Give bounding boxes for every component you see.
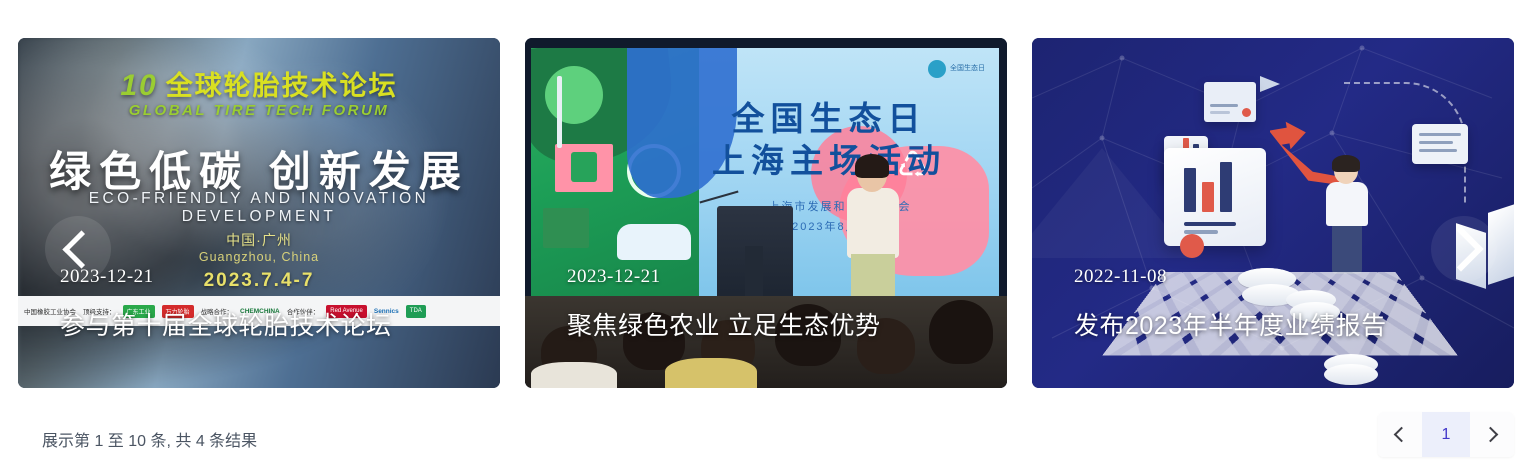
carousel-prev-button[interactable] (45, 216, 111, 282)
podium-shape (717, 206, 793, 306)
coin-shape (1324, 364, 1378, 385)
card-title: 参与第十届全球轮胎技术论坛 (60, 306, 392, 342)
pagination[interactable]: 1 (1378, 412, 1514, 457)
results-summary: 展示第 1 至 10 条, 共 4 条结果 (42, 427, 257, 451)
card-date: 2022-11-08 (1074, 266, 1167, 288)
table-footer: 展示第 1 至 10 条, 共 4 条结果 (0, 405, 1533, 471)
pagination-next-button[interactable] (1470, 412, 1514, 457)
news-carousel[interactable]: 10全球轮胎技术论坛 GLOBAL TIRE TECH FORUM 绿色低碳 创… (18, 38, 1516, 388)
bar-decoration (1202, 182, 1214, 212)
chevron-left-icon (1394, 427, 1410, 443)
sponsor-logo: TDA (406, 305, 426, 318)
person-figure (1320, 158, 1376, 276)
poster-headline-en: GLOBAL TIRE TECH FORUM (18, 102, 500, 119)
line-decoration (1184, 222, 1236, 226)
bar-decoration (1220, 162, 1232, 212)
audience-body (531, 362, 617, 388)
line-decoration (1210, 104, 1238, 107)
poster-line1: 全国生态日 (679, 92, 979, 140)
monitor-chart-card (1164, 148, 1266, 246)
logo-text: 全国生态日 (950, 65, 985, 73)
logo-mark-icon (928, 60, 946, 78)
dot-decoration (1242, 108, 1251, 117)
chevron-right-icon (1483, 427, 1499, 443)
card-title: 聚焦绿色农业 立足生态优势 (567, 306, 880, 342)
window-card (1204, 82, 1256, 122)
pagination-page-1[interactable]: 1 (1422, 412, 1470, 457)
person-legs (1332, 222, 1362, 274)
speaker-hair (855, 154, 889, 178)
speaker-body (847, 188, 899, 258)
bar-decoration (1184, 168, 1196, 212)
carousel-next-button[interactable] (1431, 216, 1497, 282)
line-decoration (1419, 149, 1457, 152)
poster-headline-text: 全球轮胎技术论坛 (166, 71, 398, 101)
card-date: 2023-12-21 (567, 266, 661, 288)
person-hair (1332, 155, 1360, 172)
car-shape (617, 224, 691, 260)
chevron-left-icon (62, 230, 100, 268)
building-shape (543, 208, 589, 248)
card-title: 发布2023年半年度业绩报告 (1074, 306, 1387, 342)
audience-body (665, 358, 757, 388)
poster-edition-number: 10 (120, 69, 157, 102)
chevron-right-icon (1438, 226, 1483, 271)
audience-head (929, 300, 993, 364)
speaker-figure (843, 158, 903, 306)
chat-bubble-icon (1412, 124, 1468, 164)
plug-icon (571, 152, 597, 182)
carousel-card[interactable]: 2022-11-08 发布2023年半年度业绩报告 (1032, 38, 1514, 388)
circle-shape (545, 66, 603, 124)
pagination-prev-button[interactable] (1378, 412, 1422, 457)
line-decoration (1210, 111, 1230, 114)
carousel-card[interactable]: 10全球轮胎技术论坛 GLOBAL TIRE TECH FORUM 绿色低碳 创… (18, 38, 500, 388)
windmill-pole (557, 76, 562, 148)
poster-line2: 上海主场活动 (679, 134, 979, 182)
person-torso (1326, 182, 1368, 226)
poster-logo: 全国生态日 (928, 60, 985, 78)
line-decoration (1419, 133, 1461, 136)
carousel-card[interactable]: ♺ 全国生态日 全国生态日 上海主场活动 上海市发展和改革委员会 2023年8月… (525, 38, 1007, 388)
poster-headline-cn: 10全球轮胎技术论坛 (18, 64, 500, 103)
line-decoration (1419, 141, 1453, 144)
circle-decoration (1180, 234, 1204, 258)
paper-plane-icon (1260, 76, 1280, 92)
